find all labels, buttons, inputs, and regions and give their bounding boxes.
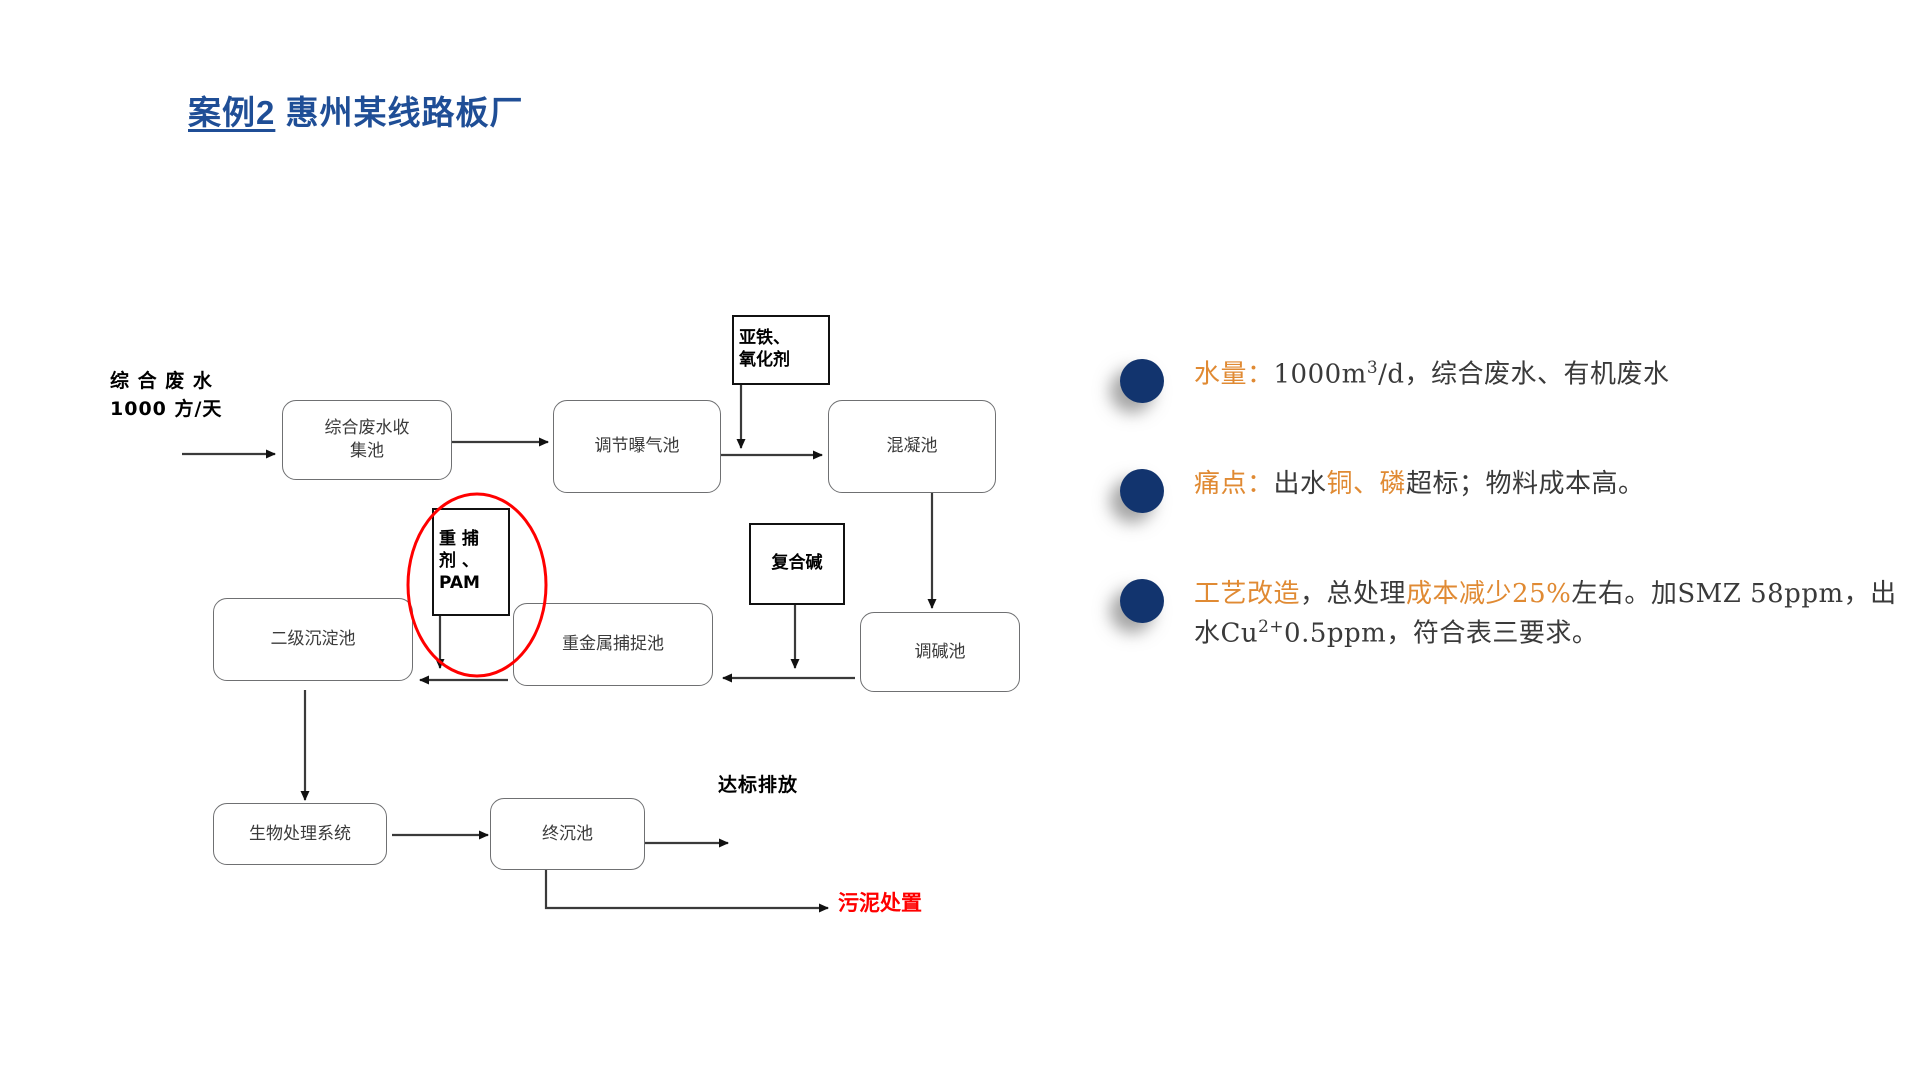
node-aeration-tank-label: 调节曝气池 — [595, 435, 680, 458]
node-secondary-settling-tank-label: 二级沉淀池 — [271, 628, 356, 651]
red-highlight-ellipse — [404, 490, 550, 680]
node-metal-capture-tank-label: 重金属捕捉池 — [562, 633, 664, 656]
bullet-item-water-volume: 水量：1000m3/d，综合废水、有机废水 — [1120, 355, 1910, 403]
node-final-settling-tank[interactable]: 终沉池 — [490, 798, 645, 870]
bullet-dot-icon — [1120, 579, 1164, 623]
inlet-label: 综 合 废 水 1000 方/天 — [110, 368, 222, 423]
node-collect-tank[interactable]: 综合废水收 集池 — [282, 400, 452, 480]
node-coagulation-tank[interactable]: 混凝池 — [828, 400, 996, 493]
flow-connectors — [0, 0, 1100, 1080]
node-aeration-tank[interactable]: 调节曝气池 — [553, 400, 721, 493]
node-final-settling-tank-label: 终沉池 — [542, 823, 593, 846]
node-bio-system-label: 生物处理系统 — [249, 823, 351, 846]
node-secondary-settling-tank[interactable]: 二级沉淀池 — [213, 598, 413, 681]
bullet-dot-icon — [1120, 469, 1164, 513]
bullet-item-pain-point: 痛点：出水铜、磷超标；物料成本高。 — [1120, 465, 1910, 513]
bullet-text-pain-point: 痛点：出水铜、磷超标；物料成本高。 — [1194, 465, 1645, 504]
chem-box-compound-alkali[interactable]: 复合碱 — [749, 523, 845, 605]
bullet-text-process-upgrade: 工艺改造，总处理成本减少25%左右。加SMZ 58ppm，出水Cu2+0.5pp… — [1194, 575, 1910, 654]
bullet-dot-icon — [1120, 359, 1164, 403]
discharge-label: 达标排放 — [718, 772, 798, 800]
summary-bullet-list: 水量：1000m3/d，综合废水、有机废水 痛点：出水铜、磷超标；物料成本高。 … — [1120, 355, 1910, 716]
node-collect-tank-label: 综合废水收 集池 — [325, 417, 410, 463]
bullet-item-process-upgrade: 工艺改造，总处理成本减少25%左右。加SMZ 58ppm，出水Cu2+0.5pp… — [1120, 575, 1910, 654]
node-bio-system[interactable]: 生物处理系统 — [213, 803, 387, 865]
chem-box-compound-alkali-label: 复合碱 — [772, 553, 823, 575]
process-flow-diagram: 综 合 废 水 1000 方/天 综合废水收 集池 调节曝气池 混凝池 调碱池 … — [0, 0, 1100, 1080]
chem-box-ferrous-oxidant[interactable]: 亚铁、 氧化剂 — [732, 315, 830, 385]
sludge-label: 污泥处置 — [838, 888, 922, 918]
node-coagulation-tank-label: 混凝池 — [887, 435, 938, 458]
node-alkali-tank[interactable]: 调碱池 — [860, 612, 1020, 692]
node-alkali-tank-label: 调碱池 — [915, 641, 966, 664]
chem-box-ferrous-oxidant-label: 亚铁、 氧化剂 — [739, 328, 790, 372]
bullet-text-water-volume: 水量：1000m3/d，综合废水、有机废水 — [1194, 355, 1670, 395]
